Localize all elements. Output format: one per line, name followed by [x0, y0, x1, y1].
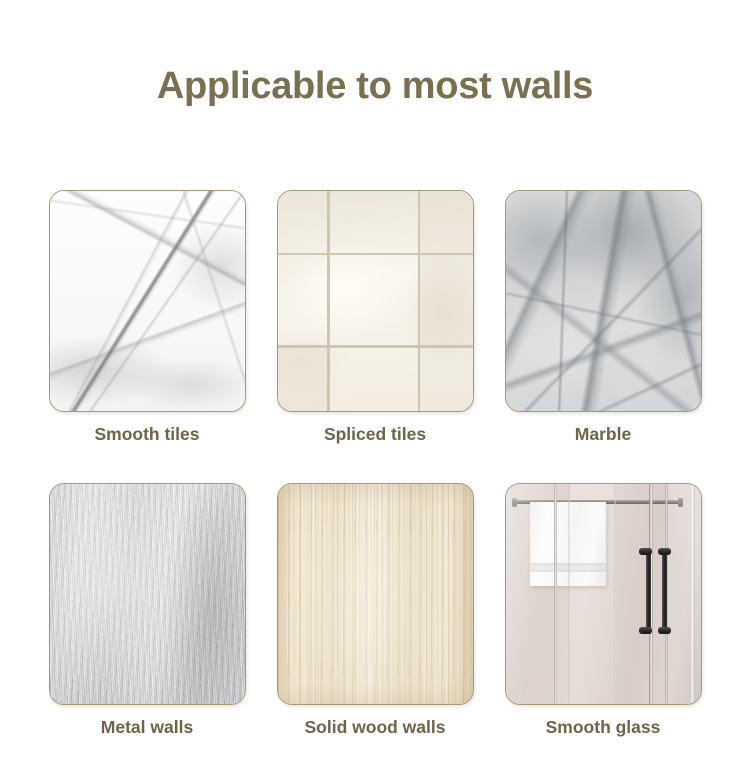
- swatch-marble: [505, 190, 702, 412]
- handle-cap: [658, 627, 671, 634]
- swatch-solid-wood-walls: [277, 483, 474, 705]
- solid-wood-swatch: [278, 484, 473, 704]
- material-card-marble[interactable]: Marble: [504, 190, 703, 445]
- grout-line-vertical: [327, 191, 330, 411]
- material-card-solid-wood-walls[interactable]: Solid wood walls: [276, 483, 475, 738]
- material-label-metal-walls: Metal walls: [101, 717, 193, 738]
- material-label-smooth-glass: Smooth glass: [546, 717, 661, 738]
- glass-door-edge: [690, 484, 695, 704]
- glass-door-edge: [554, 484, 557, 704]
- grey-marble-swatch: [506, 191, 701, 411]
- page-title: Applicable to most walls: [0, 66, 750, 108]
- material-card-spliced-tiles[interactable]: Spliced tiles: [276, 190, 475, 445]
- swatch-smooth-glass: [505, 483, 702, 705]
- grout-line-horizontal: [278, 345, 473, 348]
- tile-shade: [418, 345, 473, 411]
- handle-bar: [662, 548, 667, 634]
- beige-spliced-tile-swatch: [278, 191, 473, 411]
- swatch-spliced-tiles: [277, 190, 474, 412]
- material-label-smooth-tiles: Smooth tiles: [94, 424, 199, 445]
- glass-door-edge: [614, 484, 616, 704]
- material-card-smooth-glass[interactable]: Smooth glass: [504, 483, 703, 738]
- handle-cap: [639, 548, 652, 555]
- white-marble-tile-swatch: [50, 191, 245, 411]
- shower-glass-door-swatch: [506, 484, 701, 704]
- grout-line-horizontal: [278, 253, 473, 256]
- tile-shade: [278, 345, 328, 411]
- material-card-metal-walls[interactable]: Metal walls: [48, 483, 247, 738]
- grout-line-vertical: [418, 191, 421, 411]
- handle-cap: [639, 627, 652, 634]
- handle-cap: [658, 548, 671, 555]
- material-row-1: Smooth tiles Spliced tiles: [0, 190, 750, 445]
- material-label-spliced-tiles: Spliced tiles: [324, 424, 426, 445]
- brushed-metal-swatch: [50, 484, 245, 704]
- glass-door-edge: [568, 484, 570, 704]
- handle-bar: [646, 548, 651, 634]
- material-grid: Smooth tiles Spliced tiles: [0, 190, 750, 738]
- material-card-smooth-tiles[interactable]: Smooth tiles: [48, 190, 247, 445]
- tile-shade: [418, 191, 473, 349]
- swatch-smooth-tiles: [49, 190, 246, 412]
- swatch-metal-walls: [49, 483, 246, 705]
- material-label-solid-wood-walls: Solid wood walls: [305, 717, 446, 738]
- material-row-2: Metal walls Solid wood walls: [0, 483, 750, 738]
- material-label-marble: Marble: [575, 424, 631, 445]
- applicable-walls-infographic: Applicable to most walls Smooth tiles: [0, 0, 750, 772]
- glass-panel-right: [668, 484, 701, 704]
